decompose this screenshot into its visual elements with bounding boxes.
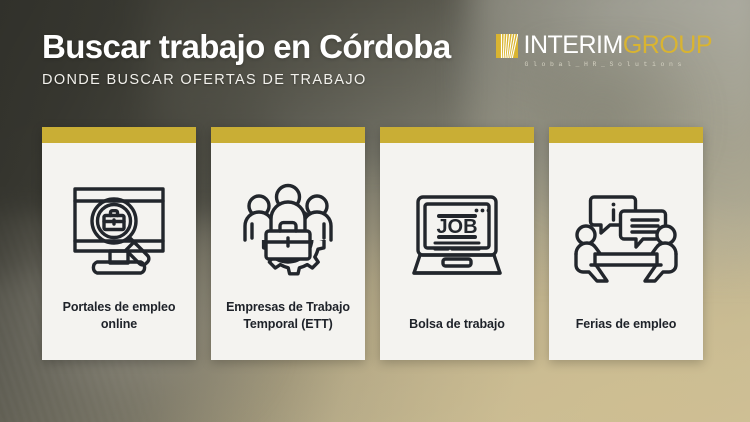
laptop-screen-word: JOB [436,216,477,238]
card-body: Ferias de empleo [549,143,703,360]
card-top-bar [211,127,365,143]
card-top-bar [380,127,534,143]
logo-row: INTERIM GROUP [496,33,712,58]
logo-word-secondary: GROUP [623,33,712,58]
card-bolsa-de-trabajo[interactable]: JOB Bolsa de trabajo [380,127,534,360]
laptop-job-screen-icon: JOB [390,161,524,316]
logo-wordmark: INTERIM GROUP [524,33,712,58]
logo-tagline: Global_HR_Solutions [525,61,687,68]
logo-word-primary: INTERIM [524,33,623,58]
page-subtitle: DONDE BUSCAR OFERTAS DE TRABAJO [42,72,712,88]
card-body: JOB Bolsa de trabajo [380,143,534,360]
card-label: Portales de empleo online [52,299,186,347]
monitor-magnifier-briefcase-icon [52,161,186,299]
people-counter-speech-bubbles-icon [559,161,693,316]
brand-logo: INTERIM GROUP Global_HR_Solutions [496,33,712,68]
card-top-bar [549,127,703,143]
card-label: Empresas de Trabajo Temporal (ETT) [221,299,355,347]
striped-square-logo-mark-icon [496,34,518,58]
card-row: Portales de empleo online [42,127,708,360]
card-empresas-trabajo-temporal[interactable]: Empresas de Trabajo Temporal (ETT) [211,127,365,360]
card-body: Empresas de Trabajo Temporal (ETT) [211,143,365,360]
card-body: Portales de empleo online [42,143,196,360]
card-portales-empleo-online[interactable]: Portales de empleo online [42,127,196,360]
card-label: Bolsa de trabajo [409,316,505,346]
card-ferias-de-empleo[interactable]: Ferias de empleo [549,127,703,360]
card-label: Ferias de empleo [576,316,677,346]
team-briefcase-gear-icon [221,161,355,299]
card-top-bar [42,127,196,143]
